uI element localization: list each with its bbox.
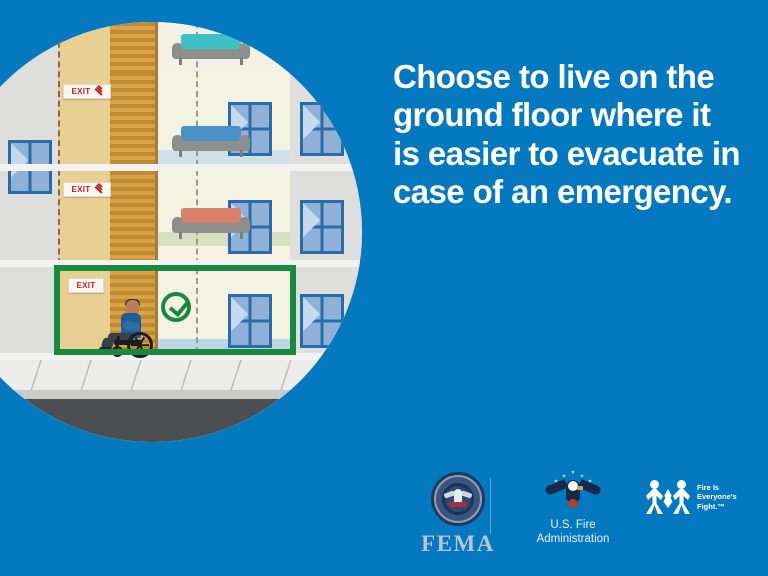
usfa-eagle-icon — [545, 470, 601, 516]
exit-sign-label: EXIT — [72, 186, 91, 194]
exit-sign-second-floor: EXIT — [63, 182, 111, 197]
floor-slab-third — [0, 164, 362, 171]
sofa-third-floor — [172, 126, 250, 156]
fief-wordmark-line1: Fire Is — [697, 483, 737, 493]
usfa-wordmark-line1: U.S. Fire — [508, 519, 638, 533]
fema-wordmark: FEMA — [398, 531, 518, 557]
fema-logo[interactable]: FEMA — [398, 472, 518, 557]
fire-is-everyones-fight-logo[interactable]: Fire Is Everyone's Fight.™ — [645, 478, 765, 516]
sidewalk — [0, 360, 362, 390]
exit-sign-label: EXIT — [72, 88, 91, 96]
window-far-right-middle — [300, 200, 344, 254]
window-far-right-top — [300, 102, 344, 156]
exit-sign-third-floor: EXIT — [63, 84, 111, 99]
staircase-top — [110, 22, 158, 72]
staircase-third-floor — [110, 72, 158, 164]
fief-wordmark-line2: Everyone's — [697, 492, 737, 502]
window-far-right-bottom — [300, 294, 344, 348]
sofa-top — [172, 34, 250, 64]
page-title: Choose to live on the ground floor where… — [393, 58, 743, 211]
dhs-seal-icon — [431, 472, 485, 526]
exit-arrow-icon — [92, 87, 102, 96]
two-figures-flame-icon — [645, 478, 691, 516]
usfa-logo[interactable]: U.S. Fire Administration — [508, 470, 638, 547]
ground-floor-highlight-box — [54, 265, 296, 355]
usfa-wordmark-line2: Administration — [508, 533, 638, 547]
poster-canvas: EXIT EXIT EXIT — [0, 0, 768, 576]
sofa-second-floor — [172, 208, 250, 238]
building-illustration: EXIT EXIT EXIT — [0, 22, 362, 442]
logo-divider — [490, 478, 491, 534]
curb — [0, 390, 362, 399]
footer-logos: FEMA U.S. Fire Administration Fire I — [380, 466, 760, 562]
street — [0, 399, 362, 442]
fief-wordmark-line3: Fight.™ — [697, 502, 737, 512]
staircase-second-floor — [110, 171, 158, 260]
exit-arrow-icon — [92, 185, 102, 194]
